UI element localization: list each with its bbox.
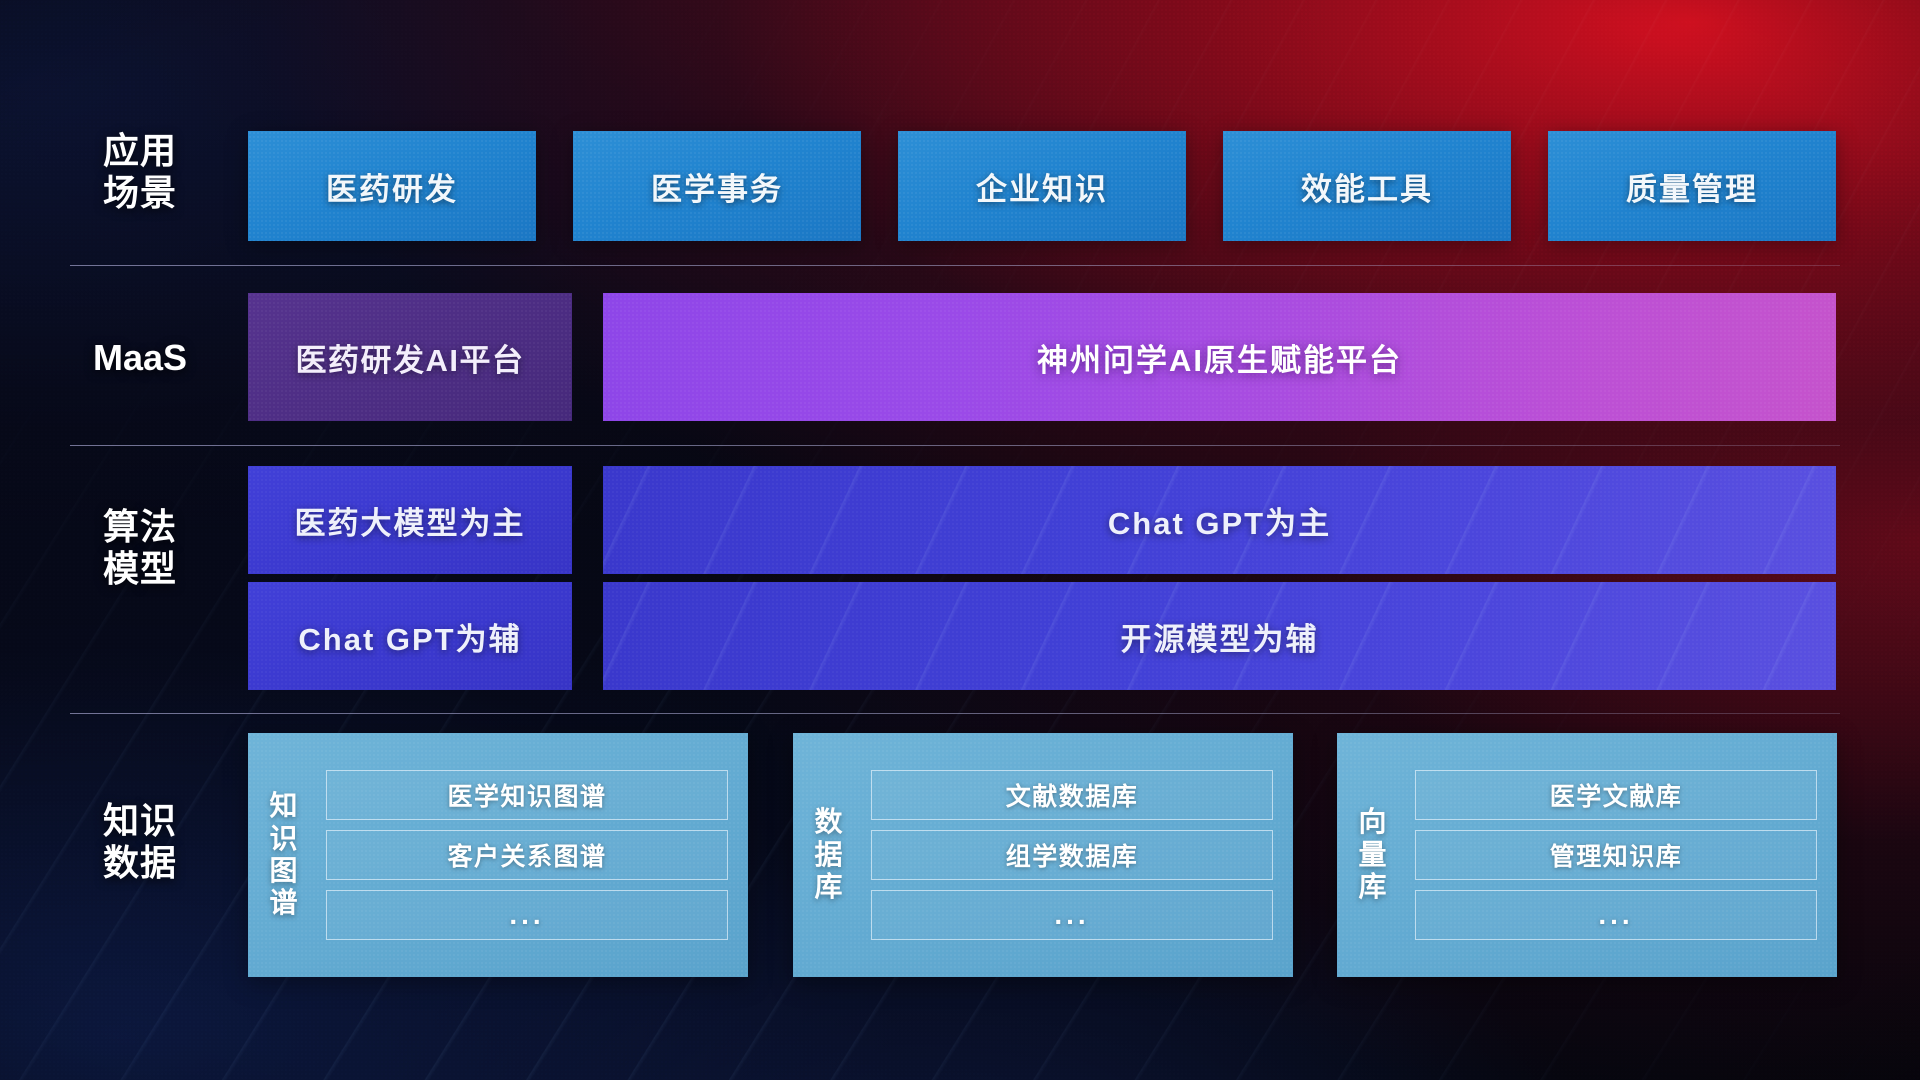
maas-box-shenzhou-wenxue-platform[interactable]: 神州问学AI原生赋能平台: [603, 293, 1836, 421]
architecture-diagram: 应用 场景 医药研发 医学事务 企业知识 效能工具 质量管理 MaaS 医药研发…: [0, 0, 1920, 1080]
knowledge-panel-vector-store[interactable]: 向 量 库 医学文献库 管理知识库 ...: [1337, 733, 1837, 977]
app-box-efficiency-tools[interactable]: 效能工具: [1223, 131, 1511, 241]
row-label-application: 应用 场景: [70, 130, 210, 215]
maas-box-label: 神州问学AI原生赋能平台: [1037, 335, 1402, 380]
app-box-label: 效能工具: [1301, 164, 1433, 209]
row-label-algorithm: 算法 模型: [70, 506, 210, 591]
knowledge-item-more[interactable]: ...: [326, 890, 728, 940]
app-box-label: 质量管理: [1626, 164, 1758, 209]
app-box-enterprise-knowledge[interactable]: 企业知识: [898, 131, 1186, 241]
algo-box-opensource-secondary[interactable]: 开源模型为辅: [603, 582, 1836, 690]
knowledge-item[interactable]: 组学数据库: [871, 830, 1273, 880]
algo-box-chatgpt-primary[interactable]: Chat GPT为主: [603, 466, 1836, 574]
app-box-medical-affairs[interactable]: 医学事务: [573, 131, 861, 241]
algo-box-chatgpt-secondary[interactable]: Chat GPT为辅: [248, 582, 572, 690]
row-label-knowledge: 知识 数据: [70, 800, 210, 885]
knowledge-panel-items: 医学知识图谱 客户关系图谱 ...: [320, 733, 748, 977]
app-box-label: 医药研发: [326, 164, 458, 209]
knowledge-item[interactable]: 客户关系图谱: [326, 830, 728, 880]
app-box-quality-management[interactable]: 质量管理: [1548, 131, 1836, 241]
knowledge-item[interactable]: 医学文献库: [1415, 770, 1817, 820]
maas-box-label: 医药研发AI平台: [296, 335, 525, 380]
app-box-label: 医学事务: [651, 164, 783, 209]
algo-box-label: Chat GPT为辅: [298, 614, 521, 659]
knowledge-panel-knowledge-graph[interactable]: 知 识 图 谱 医学知识图谱 客户关系图谱 ...: [248, 733, 748, 977]
divider-application: [70, 265, 1840, 266]
row-label-maas: MaaS: [70, 337, 210, 379]
app-box-label: 企业知识: [976, 164, 1108, 209]
knowledge-item-more[interactable]: ...: [1415, 890, 1817, 940]
knowledge-panel-items: 医学文献库 管理知识库 ...: [1409, 733, 1837, 977]
knowledge-panel-title: 知 识 图 谱: [248, 733, 320, 977]
knowledge-item[interactable]: 医学知识图谱: [326, 770, 728, 820]
knowledge-panel-title: 数 据 库: [793, 733, 865, 977]
app-box-drug-rd[interactable]: 医药研发: [248, 131, 536, 241]
knowledge-item[interactable]: 文献数据库: [871, 770, 1273, 820]
algo-box-drug-large-model-primary[interactable]: 医药大模型为主: [248, 466, 572, 574]
maas-box-drug-rd-ai-platform[interactable]: 医药研发AI平台: [248, 293, 572, 421]
algo-box-label: 开源模型为辅: [1121, 614, 1319, 659]
knowledge-panel-items: 文献数据库 组学数据库 ...: [865, 733, 1293, 977]
divider-algorithm: [70, 713, 1840, 714]
algo-box-label: 医药大模型为主: [295, 498, 526, 543]
knowledge-item-more[interactable]: ...: [871, 890, 1273, 940]
knowledge-panel-title: 向 量 库: [1337, 733, 1409, 977]
knowledge-panel-database[interactable]: 数 据 库 文献数据库 组学数据库 ...: [793, 733, 1293, 977]
divider-maas: [70, 445, 1840, 446]
algo-box-label: Chat GPT为主: [1108, 498, 1331, 543]
knowledge-item[interactable]: 管理知识库: [1415, 830, 1817, 880]
